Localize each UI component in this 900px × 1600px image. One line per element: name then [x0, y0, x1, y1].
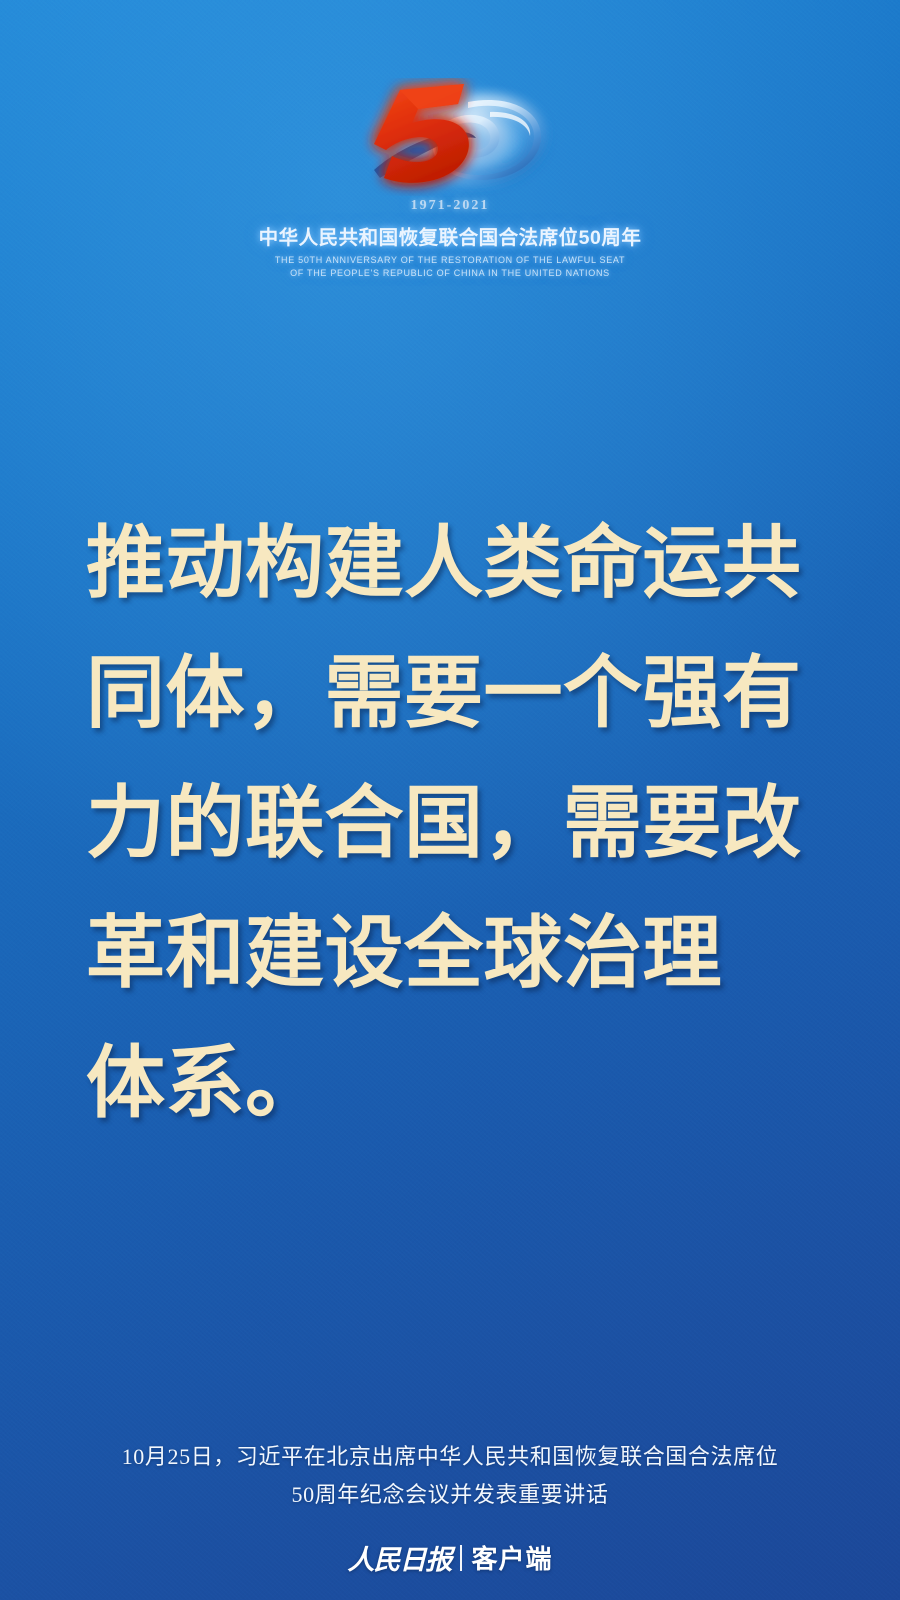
caption-line: 10月25日，习近平在北京出席中华人民共和国恢复联合国合法席位	[0, 1438, 900, 1476]
emblem-years-label: 1971-2021	[411, 198, 490, 214]
publisher-wordmark: 人民日报	[347, 1538, 451, 1577]
emblem-title-english-line1: THE 50TH ANNIVERSARY OF THE RESTORATION …	[275, 254, 625, 267]
fifty-logo-icon	[340, 78, 560, 196]
emblem-title-english-line2: OF THE PEOPLE'S REPUBLIC OF CHINA IN THE…	[275, 267, 625, 280]
headline-line: 革和建设全球治理	[86, 888, 830, 1018]
emblem-title-chinese: 中华人民共和国恢复联合国合法席位50周年	[259, 221, 642, 250]
headline-line: 同体，需要一个强有	[86, 628, 830, 758]
anniversary-emblem: 1971-2021 中华人民共和国恢复联合国合法席位50周年 THE 50TH …	[0, 78, 900, 280]
headline-quote: 推动构建人类命运共 同体，需要一个强有 力的联合国，需要改 革和建设全球治理 体…	[86, 498, 830, 1148]
caption-line: 50周年纪念会议并发表重要讲话	[0, 1476, 900, 1514]
caption-block: 10月25日，习近平在北京出席中华人民共和国恢复联合国合法席位 50周年纪念会议…	[0, 1438, 900, 1514]
poster-canvas: 1971-2021 中华人民共和国恢复联合国合法席位50周年 THE 50TH …	[0, 0, 900, 1600]
app-wordmark: 客户端	[471, 1539, 552, 1576]
footer-brand: 人民日报 客户端	[0, 1538, 900, 1577]
emblem-title-english: THE 50TH ANNIVERSARY OF THE RESTORATION …	[275, 254, 625, 280]
headline-line: 体系。	[86, 1018, 830, 1148]
brand-divider	[460, 1545, 462, 1571]
headline-line: 推动构建人类命运共	[86, 498, 830, 628]
headline-line: 力的联合国，需要改	[86, 758, 830, 888]
